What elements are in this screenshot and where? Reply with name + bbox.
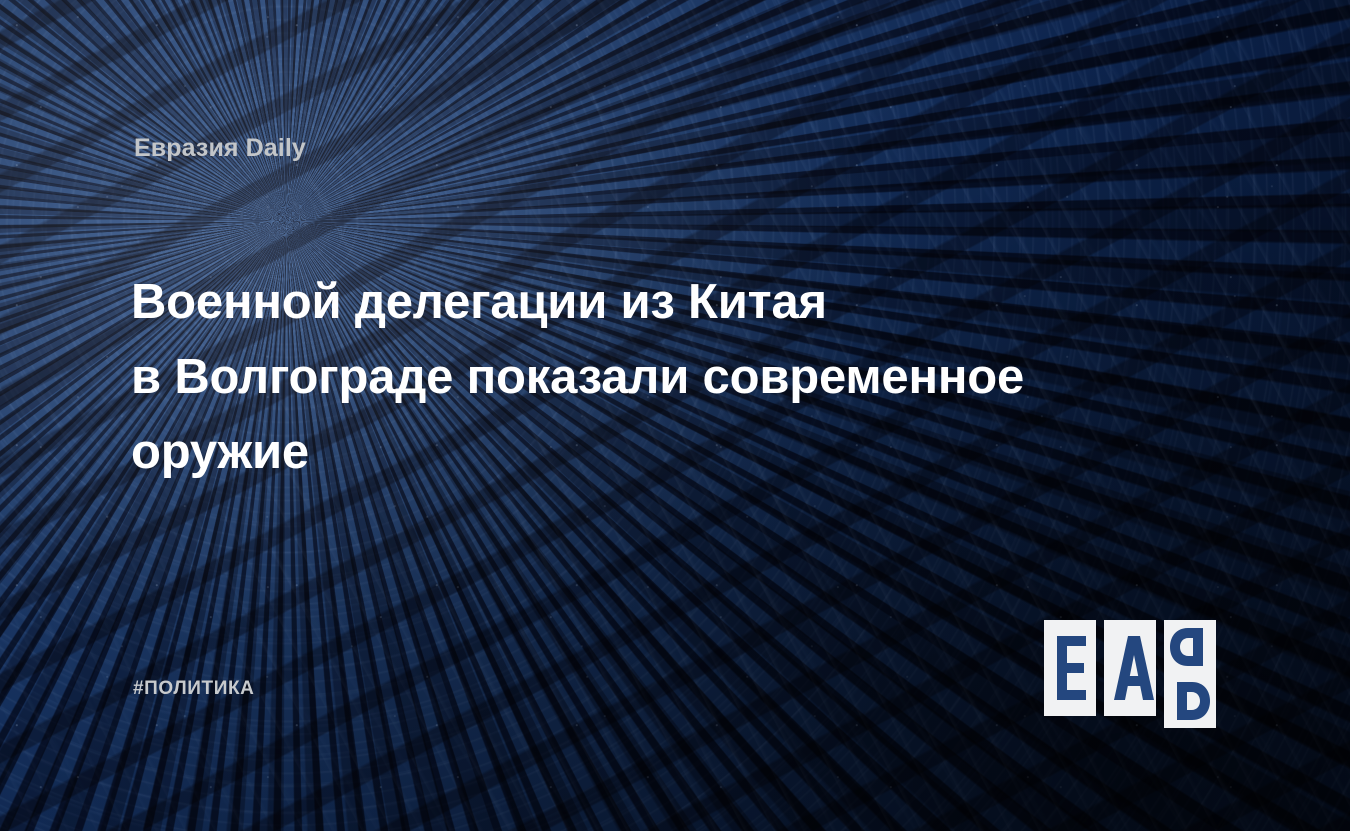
logo-tile-d [1164, 674, 1216, 728]
rubric-tag-politics[interactable]: #ПОЛИТИКА [133, 679, 255, 698]
headline-line-1: Военной делегации из Китая [131, 265, 1141, 340]
article-headline: Военной делегации из Китая в Волгограде … [131, 265, 1141, 490]
headline-line-2: в Волгограде показали современное [131, 340, 1141, 415]
headline-line-3: оружие [131, 415, 1141, 490]
card-content: Евразия Daily Военной делегации из Китая… [0, 0, 1350, 831]
logo-tile-a [1104, 620, 1156, 716]
site-brand-name: Евразия Daily [134, 136, 306, 161]
logo-tile-e [1044, 620, 1096, 716]
eadaily-logo [1044, 620, 1224, 728]
social-share-card: Евразия Daily Военной делегации из Китая… [0, 0, 1350, 831]
logo-tile-d-rotated [1164, 620, 1216, 674]
